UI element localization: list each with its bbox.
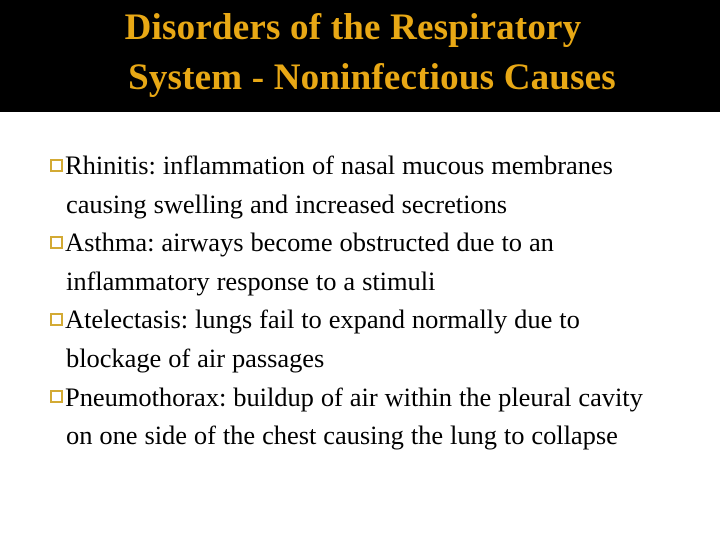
- square-outline-bullet-icon: [50, 390, 63, 403]
- square-outline-bullet-icon: [50, 159, 63, 172]
- square-outline-bullet-icon: [50, 313, 63, 326]
- bullet-item-text: Pneumothorax: buildup of air within the …: [65, 382, 643, 451]
- slide-title-line-1: Disorders of the Respiratory: [125, 3, 582, 53]
- bullet-item-text: Rhinitis: inflammation of nasal mucous m…: [65, 150, 613, 219]
- slide-title-banner: Disorders of the Respiratory System - No…: [0, 0, 720, 112]
- bullet-list-item: Asthma: airways become obstructed due to…: [44, 223, 676, 300]
- presentation-slide: Disorders of the Respiratory System - No…: [0, 0, 720, 540]
- bullet-item-text: Atelectasis: lungs fail to expand normal…: [65, 304, 580, 373]
- square-outline-bullet-icon: [50, 236, 63, 249]
- bullet-list-item: Pneumothorax: buildup of air within the …: [44, 378, 676, 455]
- bullet-item-text: Asthma: airways become obstructed due to…: [65, 227, 554, 296]
- slide-title-line-2: System - Noninfectious Causes: [128, 53, 616, 103]
- slide-body-content: Rhinitis: inflammation of nasal mucous m…: [0, 112, 720, 540]
- bullet-list-item: Atelectasis: lungs fail to expand normal…: [44, 300, 676, 377]
- bullet-list-item: Rhinitis: inflammation of nasal mucous m…: [44, 146, 676, 223]
